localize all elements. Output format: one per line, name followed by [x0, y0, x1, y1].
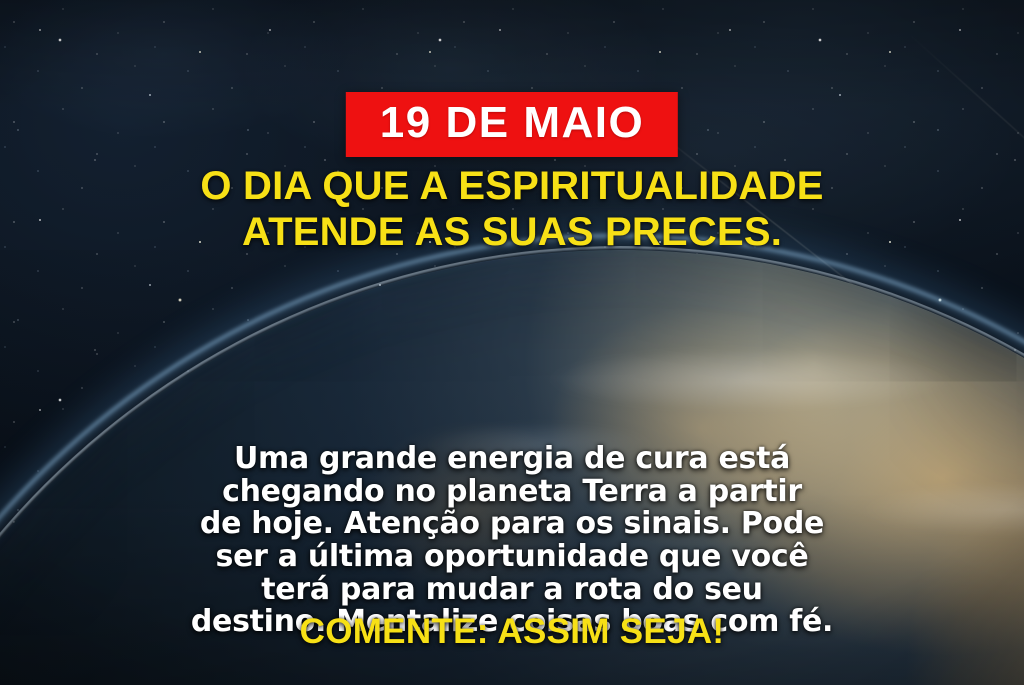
poster-canvas: 19 DE MAIO O DIA QUE A ESPIRITUALIDADE A… [0, 0, 1024, 685]
body-line-4: ser a última oportunidade que você [52, 541, 972, 574]
body-line-3: de hoje. Atenção para os sinais. Pode [52, 508, 972, 541]
body-line-5: terá para mudar a rota do seu [52, 574, 972, 607]
body-copy: Uma grande energia de cura está chegando… [0, 443, 1024, 639]
date-banner: 19 DE MAIO [346, 92, 678, 157]
body-line-1: Uma grande energia de cura está [52, 443, 972, 476]
headline-line-1: O DIA QUE A ESPIRITUALIDADE [40, 163, 984, 209]
headline: O DIA QUE A ESPIRITUALIDADE ATENDE AS SU… [0, 163, 1024, 256]
poster-content: 19 DE MAIO O DIA QUE A ESPIRITUALIDADE A… [0, 0, 1024, 685]
headline-line-2: ATENDE AS SUAS PRECES. [40, 209, 984, 255]
date-banner-label: 19 DE MAIO [380, 101, 644, 145]
call-to-action-text: COMENTE: ASSIM SEJA! [0, 612, 1024, 652]
body-line-2: chegando no planeta Terra a partir [52, 476, 972, 509]
